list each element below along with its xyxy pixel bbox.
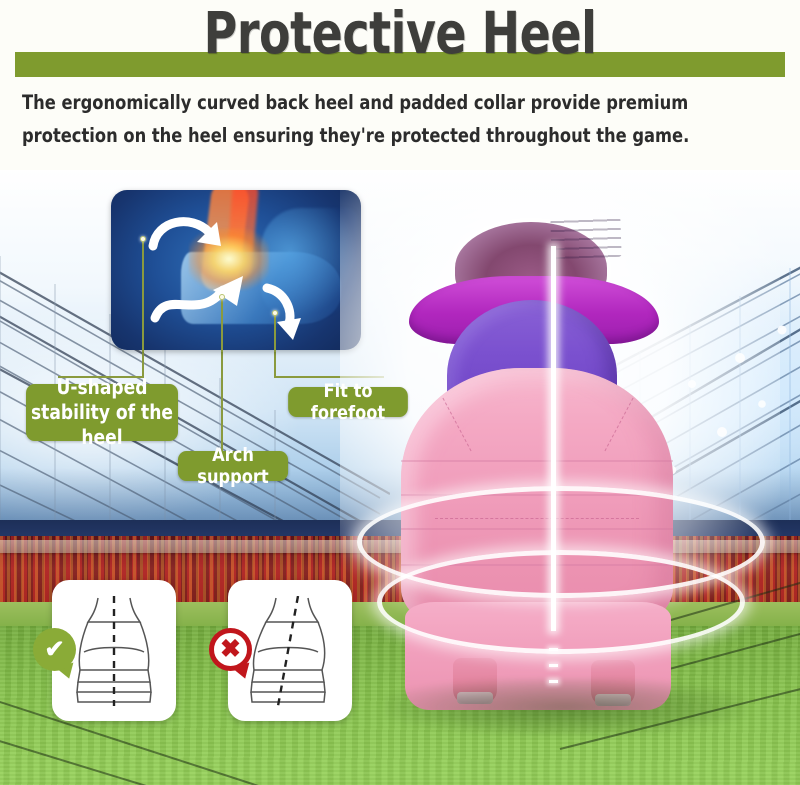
page-title: Protective Heel	[48, 0, 752, 68]
callout-label-line1: U-shaped	[57, 375, 148, 399]
check-icon: ✔	[33, 628, 76, 671]
callout-fit-to-forefoot[interactable]: Fit to forefoot	[288, 387, 408, 417]
motion-arrow-icon	[147, 212, 227, 278]
callout-label-line2: stability of the heel	[31, 400, 173, 449]
check-glyph: ✔	[44, 635, 64, 664]
anatomy-pin-line	[274, 314, 276, 352]
alignment-center-dash	[549, 664, 558, 667]
anatomy-pin-dot	[140, 236, 146, 242]
callout-connector	[142, 352, 144, 377]
callout-u-shaped-stability[interactable]: U-shaped stability of the heel	[26, 384, 178, 441]
shoe-ground-shadow	[385, 678, 745, 736]
heel-correct-diagram-icon	[62, 596, 166, 708]
infographic-page: U-shaped stability of the heel Arch supp…	[0, 0, 800, 785]
motion-arrow-icon	[259, 282, 329, 344]
motion-arrow-icon	[149, 272, 259, 334]
heel-incorrect-diagram-icon	[238, 596, 342, 708]
cross-icon: ✖	[209, 628, 252, 671]
cross-glyph: ✖	[220, 637, 241, 662]
callout-label: Arch support	[178, 444, 288, 488]
alignment-center-dash	[549, 648, 558, 651]
halo-ring-icon	[377, 550, 745, 654]
header-section: Protective Heel The ergonomically curved…	[0, 0, 800, 170]
ankle-anatomy-inset	[111, 190, 361, 350]
callout-connector	[274, 352, 276, 377]
anatomy-pin-line	[142, 240, 144, 352]
shoe-size-label	[550, 217, 621, 259]
callout-label: Fit to forefoot	[288, 380, 408, 424]
anatomy-pin-dot	[219, 294, 225, 300]
anatomy-pin-line	[221, 298, 223, 352]
anatomy-pin-dot	[272, 310, 278, 316]
intro-paragraph: The ergonomically curved back heel and p…	[22, 86, 729, 152]
callout-connector	[221, 352, 223, 452]
callout-arch-support[interactable]: Arch support	[178, 451, 288, 481]
product-shoe	[395, 250, 725, 740]
alignment-center-line	[551, 246, 556, 631]
alignment-center-dash	[549, 680, 558, 683]
